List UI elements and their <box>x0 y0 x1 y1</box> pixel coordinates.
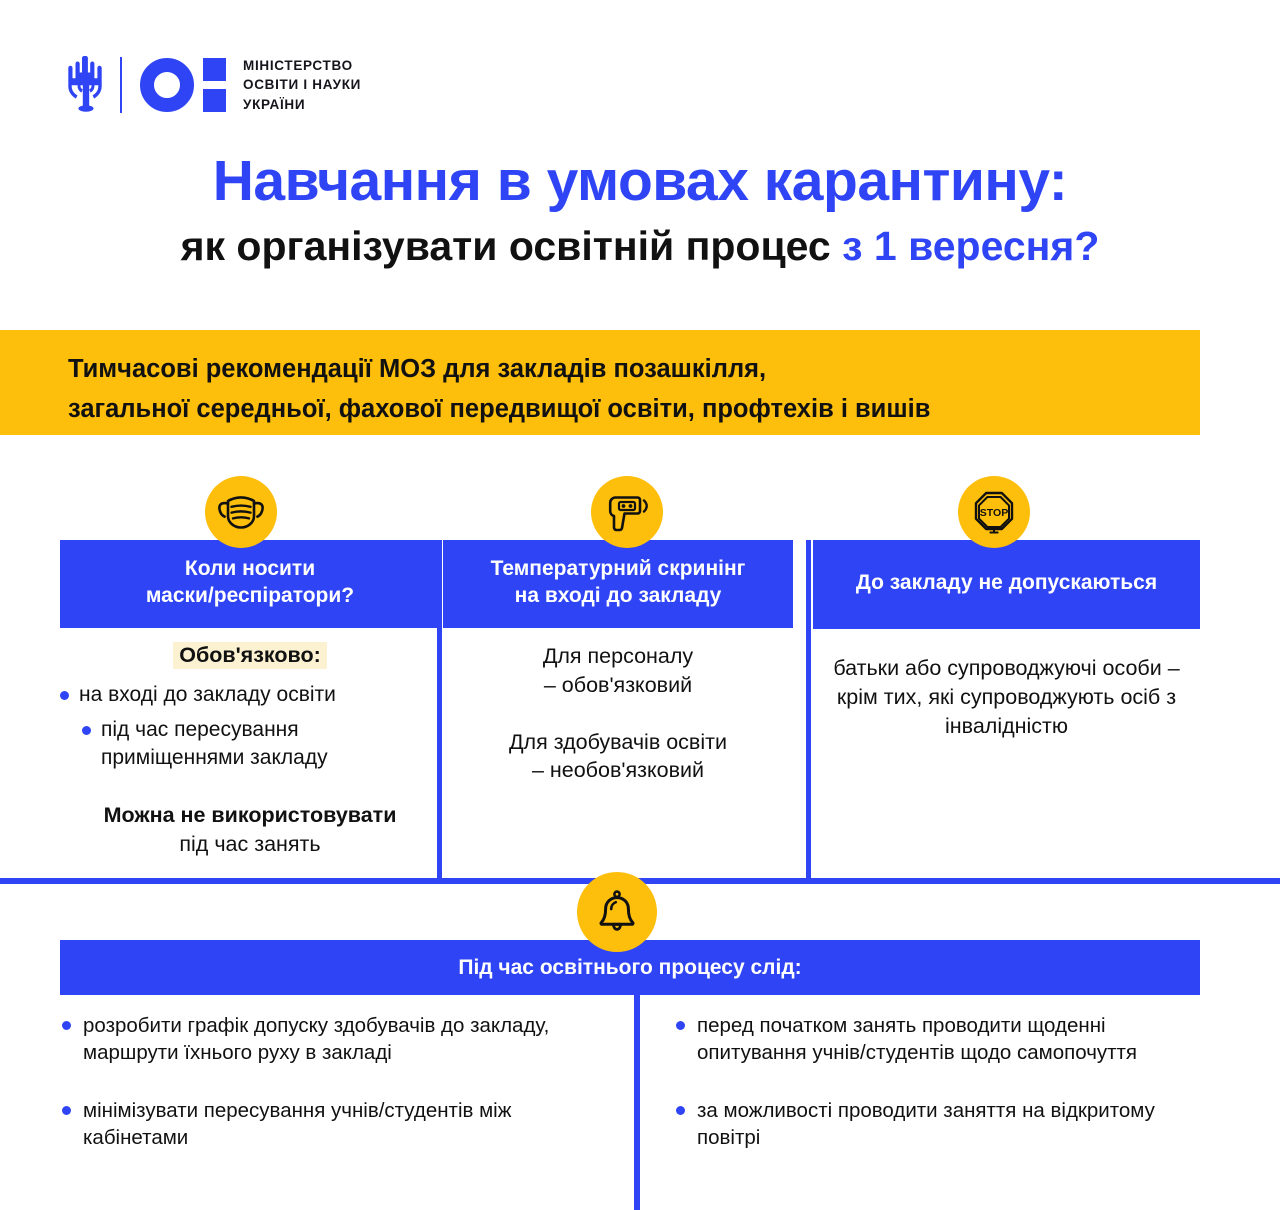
ministry-name-line2: ОСВІТИ І НАУКИ <box>243 75 361 94</box>
column-temp-p2-line1: Для здобувачів освіти <box>443 728 793 757</box>
mon-o-mark-icon <box>140 58 226 112</box>
column-not-admitted-header-line1: До закладу не допускаються <box>823 570 1190 597</box>
column-temp-header-line2: на вході до закладу <box>453 583 783 610</box>
face-mask-icon <box>205 476 277 548</box>
bottom-list-right: перед початком занять проводити щоденні … <box>676 1012 1176 1182</box>
logo-squares-shape <box>203 58 226 112</box>
bullet-dot-icon <box>60 691 69 700</box>
ministry-name: МІНІСТЕРСТВО ОСВІТИ І НАУКИ УКРАЇНИ <box>243 56 361 113</box>
bullet-dot-icon <box>62 1106 71 1115</box>
page-title-line2-main: як організувати освітній процес <box>181 223 843 269</box>
column-temp-paragraph-1: Для персоналу – обов'язковий <box>443 642 793 700</box>
column-temp-p1-line2: – обов'язковий <box>443 671 793 700</box>
list-item: мінімізувати пересування учнів/студентів… <box>62 1097 607 1152</box>
bottom-column-divider <box>634 995 640 1210</box>
column-temp-header-line1: Температурний скринінг <box>453 556 783 583</box>
list-item: за можливості проводити заняття на відкр… <box>676 1097 1176 1152</box>
bullet-dot-icon <box>82 726 91 735</box>
column-not-admitted-header: До закладу не допускаються <box>813 540 1200 629</box>
list-item-label: мінімізувати пересування учнів/студентів… <box>83 1097 607 1152</box>
bullet-dot-icon <box>62 1021 71 1030</box>
page-title: Навчання в умовах карантину: як організу… <box>0 152 1280 269</box>
recommendation-columns: Коли носити маски/респіратори? Обов'язко… <box>0 476 1280 886</box>
column-masks-header-line2: маски/респіратори? <box>70 583 430 610</box>
column-masks-emphasis: Обов'язково: <box>173 642 327 669</box>
ministry-name-line3: УКРАЇНИ <box>243 95 361 114</box>
stop-sign-icon: STOP <box>958 476 1030 548</box>
column-not-admitted-paragraph: батьки або супроводжуючі особи – крім ти… <box>813 654 1200 740</box>
list-item-label: розробити графік допуску здобувачів до з… <box>83 1012 607 1067</box>
list-item: розробити графік допуску здобувачів до з… <box>62 1012 607 1067</box>
column-masks-footer-plain: під час занять <box>60 830 440 859</box>
column-masks-body: Обов'язково: на вході до закладу освіти … <box>60 642 440 858</box>
bullet-dot-icon <box>676 1106 685 1115</box>
subtitle-line1: Тимчасові рекомендації МОЗ для закладів … <box>68 350 1188 390</box>
bell-icon <box>577 872 657 952</box>
ministry-name-line1: МІНІСТЕРСТВО <box>243 56 361 75</box>
bottom-list-left: розробити графік допуску здобувачів до з… <box>62 1012 607 1182</box>
list-item: перед початком занять проводити щоденні … <box>676 1012 1176 1067</box>
subtitle-banner-text: Тимчасові рекомендації МОЗ для закладів … <box>68 350 1188 429</box>
subtitle-line2: загальної середньої, фахової передвищої … <box>68 390 1188 430</box>
page-title-line1: Навчання в умовах карантину: <box>0 152 1280 212</box>
column-temp-paragraph-2: Для здобувачів освіти – необов'язковий <box>443 728 793 786</box>
list-item-label: на вході до закладу освіти <box>79 681 336 708</box>
bullet-dot-icon <box>676 1021 685 1030</box>
ukraine-trident-icon <box>68 56 104 114</box>
column-temp-p2-line2: – необов'язковий <box>443 756 793 785</box>
list-item: під час пересування приміщеннями закладу <box>60 716 440 771</box>
column-masks-footer-bold: Можна не використовувати <box>60 801 440 830</box>
infrared-thermometer-icon <box>591 476 663 548</box>
column-temperature-screening-header: Температурний скринінг на вході до закла… <box>443 540 793 628</box>
svg-text:STOP: STOP <box>980 507 1008 519</box>
list-item-label: під час пересування приміщеннями закладу <box>101 716 440 771</box>
logo-ring-shape <box>140 58 194 112</box>
list-item-label: за можливості проводити заняття на відкр… <box>697 1097 1176 1152</box>
column-temp-p1-line1: Для персоналу <box>443 642 793 671</box>
logo-divider <box>120 57 122 113</box>
ministry-logo: МІНІСТЕРСТВО ОСВІТИ І НАУКИ УКРАЇНИ <box>68 52 361 118</box>
column-masks-header-line1: Коли носити <box>70 556 430 583</box>
subtitle-banner: Тимчасові рекомендації МОЗ для закладів … <box>0 330 1200 435</box>
column-masks-header: Коли носити маски/респіратори? <box>60 540 440 628</box>
list-item-label: перед початком занять проводити щоденні … <box>697 1012 1176 1067</box>
column-temperature-screening-body: Для персоналу – обов'язковий Для здобува… <box>443 642 793 785</box>
list-item: на вході до закладу освіти <box>60 681 440 708</box>
page-title-line2-accent: з 1 вересня? <box>842 223 1099 269</box>
column-not-admitted-body: батьки або супроводжуючі особи – крім ти… <box>813 654 1200 740</box>
page-title-line2: як організувати освітній процес з 1 вере… <box>0 224 1280 269</box>
